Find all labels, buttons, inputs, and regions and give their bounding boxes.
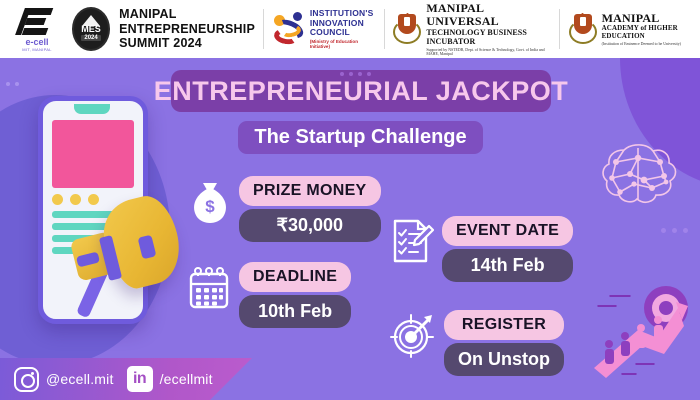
growth-arrow-people-icon (592, 282, 696, 382)
mutbi-line-1: MANIPAL UNIVERSAL (426, 2, 550, 29)
iic-line-3: COUNCIL (310, 28, 376, 38)
mahe-line-3: (Institution of Eminence Deemed to be Un… (602, 42, 700, 46)
deadline-label: DEADLINE (239, 262, 351, 292)
poster-title: ENTREPRENEURIAL JACKPOT (154, 76, 569, 107)
logo-divider-2 (384, 9, 385, 49)
event-date-value: 14th Feb (442, 249, 573, 282)
card-deadline: DEADLINE 10th Feb (188, 262, 351, 328)
logo-divider-1 (263, 9, 264, 49)
event-date-label: EVENT DATE (442, 216, 573, 246)
footer-social-bar: @ecell.mit in /ecellmit (0, 358, 310, 400)
instagram-handle[interactable]: @ecell.mit (46, 371, 114, 387)
card-event-date: EVENT DATE 14th Feb (390, 216, 573, 282)
ecell-mark-icon (20, 7, 54, 37)
event-title-header: MANIPAL ENTREPRENEURSHIP SUMMIT 2024 (119, 7, 255, 51)
poster-title-banner: ENTREPRENEURIAL JACKPOT (171, 70, 551, 112)
mutbi-line-3: Supported by NSTEDB, Dept. of Science & … (426, 48, 550, 57)
linkedin-mark: in (127, 366, 153, 392)
mes-badge-icon: MES 2024 (72, 7, 110, 51)
calendar-icon (188, 266, 230, 315)
iic-logo: INSTITUTION'S INNOVATION COUNCIL (Minist… (272, 9, 376, 49)
ecell-subtitle: MIT, MANIPAL (22, 47, 52, 52)
mutbi-crest-icon (392, 12, 422, 46)
mahe-line-1: MANIPAL (602, 12, 700, 25)
deadline-value: 10th Feb (239, 295, 351, 328)
card-prize-money: $ PRIZE MONEY ₹30,000 (188, 176, 381, 242)
register-label: REGISTER (444, 310, 564, 340)
mahe-crest-icon (568, 12, 598, 46)
iic-mark-icon (272, 10, 306, 48)
ecell-logo: e-cell MIT, MANIPAL (0, 0, 64, 58)
prize-money-value: ₹30,000 (239, 209, 381, 242)
target-dart-icon (390, 312, 436, 363)
poster-canvas: e-cell MIT, MANIPAL MES 2024 MANIPAL ENT… (0, 0, 700, 400)
mutbi-line-2: TECHNOLOGY BUSINESS INCUBATOR (426, 29, 550, 47)
ecell-name: e-cell (25, 38, 48, 47)
megaphone-icon (64, 192, 184, 322)
linkedin-icon[interactable]: in (127, 366, 153, 392)
mes-year: 2024 (81, 35, 100, 41)
linkedin-handle[interactable]: /ecellmit (160, 371, 213, 387)
instagram-icon[interactable] (14, 367, 39, 392)
decor-dots-top-left (6, 82, 19, 86)
mahe-logo: MANIPAL ACADEMY of HIGHER EDUCATION (Ins… (568, 0, 700, 58)
money-bag-icon: $ (188, 180, 232, 231)
poster-subtitle-banner: The Startup Challenge (238, 121, 483, 154)
poster-subtitle: The Startup Challenge (254, 126, 466, 149)
smartphone-megaphone-illustration (26, 96, 186, 346)
svg-text:$: $ (205, 197, 215, 216)
register-value: On Unstop (444, 343, 564, 376)
clipboard-checklist-icon (390, 218, 434, 269)
brain-network-icon (594, 136, 692, 218)
iic-ministry-note: (Ministry of Education Initiative) (310, 39, 376, 49)
logo-divider-3 (559, 9, 560, 49)
mutbi-logo: MANIPAL UNIVERSAL TECHNOLOGY BUSINESS IN… (392, 0, 550, 58)
decor-dots-right (661, 228, 688, 233)
prize-money-label: PRIZE MONEY (239, 176, 381, 206)
sponsor-logo-header: e-cell MIT, MANIPAL MES 2024 MANIPAL ENT… (0, 0, 700, 58)
mes-word: MES (81, 25, 101, 34)
decor-dots-title (340, 72, 371, 76)
card-register: REGISTER On Unstop (390, 310, 564, 376)
mahe-line-2: ACADEMY of HIGHER EDUCATION (602, 25, 700, 41)
